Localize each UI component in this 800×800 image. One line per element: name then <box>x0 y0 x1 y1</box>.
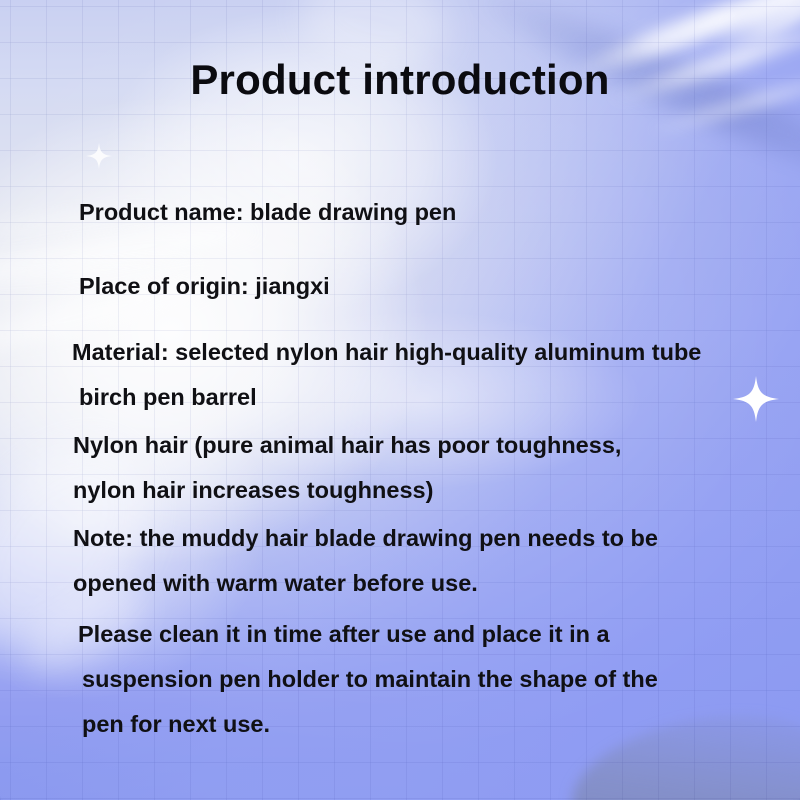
detail-product-name: Product name: blade drawing pen <box>0 190 800 235</box>
detail-line: nylon hair increases toughness) <box>73 468 800 513</box>
detail-line: Place of origin: jiangxi <box>79 264 800 309</box>
product-introduction-poster: Product introduction Product name: blade… <box>0 0 800 800</box>
product-details-list: Product name: blade drawing pen Place of… <box>0 190 800 747</box>
detail-line: Product name: blade drawing pen <box>79 190 800 235</box>
page-title: Product introduction <box>0 56 800 104</box>
detail-line: Note: the muddy hair blade drawing pen n… <box>73 516 800 561</box>
detail-line: opened with warm water before use. <box>73 561 800 606</box>
detail-note: Note: the muddy hair blade drawing pen n… <box>0 516 800 606</box>
detail-care-instructions: Please clean it in time after use and pl… <box>0 612 800 747</box>
detail-line: Material: selected nylon hair high-quali… <box>72 330 800 375</box>
detail-material: Material: selected nylon hair high-quali… <box>0 330 800 420</box>
detail-line: suspension pen holder to maintain the sh… <box>78 657 800 702</box>
detail-line: Nylon hair (pure animal hair has poor to… <box>73 423 800 468</box>
poster-content: Product introduction Product name: blade… <box>0 0 800 800</box>
detail-nylon-hair: Nylon hair (pure animal hair has poor to… <box>0 423 800 513</box>
detail-line: birch pen barrel <box>72 375 800 420</box>
detail-line: pen for next use. <box>78 702 800 747</box>
detail-place-of-origin: Place of origin: jiangxi <box>0 264 800 309</box>
detail-line: Please clean it in time after use and pl… <box>78 612 800 657</box>
